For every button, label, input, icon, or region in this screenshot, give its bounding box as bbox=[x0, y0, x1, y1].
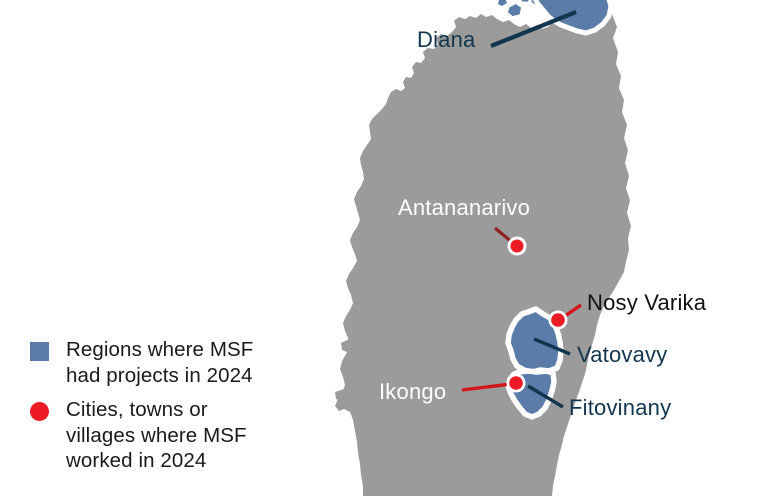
legend-regions-line1: Regions where MSF bbox=[66, 337, 253, 363]
legend-item-cities: Cities, towns or villages where MSF work… bbox=[30, 397, 320, 474]
legend-item-regions: Regions where MSF had projects in 2024 bbox=[30, 337, 320, 388]
region-label-fitovinany: Fitovinany bbox=[569, 397, 671, 419]
city-marker-nosy-varika[interactable] bbox=[549, 311, 568, 330]
region-diana-body bbox=[533, 0, 611, 33]
region-label-diana: Diana bbox=[417, 29, 475, 51]
diana-islet-2 bbox=[519, 0, 532, 3]
city-label-antananarivo: Antananarivo bbox=[398, 197, 530, 219]
madagascar-map: Diana Antananarivo Nosy Varika Vatovavy … bbox=[0, 0, 778, 496]
mainland-path bbox=[335, 0, 631, 496]
legend-cities-line2: villages where MSF bbox=[66, 423, 247, 449]
legend-regions-text: Regions where MSF had projects in 2024 bbox=[66, 337, 253, 388]
region-label-vatovavy: Vatovavy bbox=[577, 344, 667, 366]
legend-cities-line3: worked in 2024 bbox=[66, 448, 247, 474]
legend-regions-line2: had projects in 2024 bbox=[66, 363, 253, 389]
city-marker-ikongo[interactable] bbox=[507, 374, 526, 393]
legend-cities-text: Cities, towns or villages where MSF work… bbox=[66, 397, 247, 474]
map-legend: Regions where MSF had projects in 2024 C… bbox=[30, 337, 320, 483]
city-marker-antananarivo[interactable] bbox=[508, 237, 527, 256]
legend-city-swatch-icon bbox=[30, 402, 49, 421]
madagascar-landmass bbox=[335, 0, 631, 496]
city-label-nosy-varika: Nosy Varika bbox=[587, 292, 706, 314]
city-label-ikongo: Ikongo bbox=[379, 381, 446, 403]
legend-cities-line1: Cities, towns or bbox=[66, 397, 247, 423]
diana-islet-1 bbox=[506, 2, 523, 18]
diana-islet-3 bbox=[498, 0, 507, 6]
legend-swatch-cell bbox=[30, 397, 66, 421]
legend-region-swatch-icon bbox=[30, 342, 49, 361]
legend-swatch-cell bbox=[30, 337, 66, 361]
